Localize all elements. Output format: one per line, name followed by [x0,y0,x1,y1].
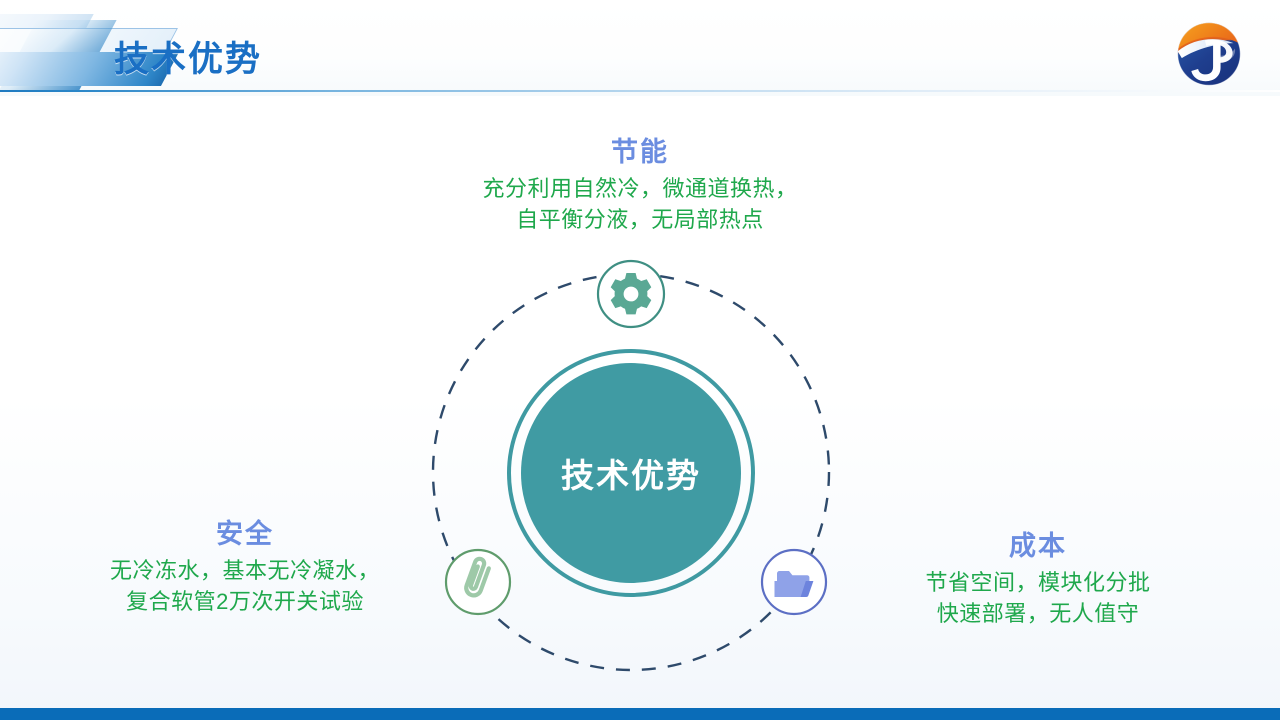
callout-safety-title: 安全 [35,518,455,552]
slide-header: 技术优势 [0,0,1280,96]
callout-safety-body: 无冷冻水，基本无冷凝水， 复合软管2万次开关试验 [35,555,455,617]
callout-energy-body: 充分利用自然冷，微通道换热， 自平衡分液，无局部热点 [380,173,900,235]
technology-advantage-diagram: 技术优势 [400,255,870,675]
callout-safety: 安全 无冷冻水，基本无冷凝水， 复合软管2万次开关试验 [35,518,455,617]
node-energy[interactable] [598,261,664,327]
callout-cost-title: 成本 [828,530,1248,564]
callout-cost-body: 节省空间，模块化分批 快速部署，无人值守 [828,567,1248,629]
page-title: 技术优势 [114,31,262,82]
header-divider [0,90,1280,92]
callout-energy-title: 节能 [380,136,900,170]
company-logo-icon [1175,20,1243,88]
node-cost[interactable] [762,550,826,614]
center-label: 技术优势 [561,457,701,494]
node-safety[interactable] [446,550,510,614]
footer-bar [0,708,1280,720]
callout-energy: 节能 充分利用自然冷，微通道换热， 自平衡分液，无局部热点 [380,136,900,235]
callout-cost: 成本 节省空间，模块化分批 快速部署，无人值守 [828,530,1248,629]
